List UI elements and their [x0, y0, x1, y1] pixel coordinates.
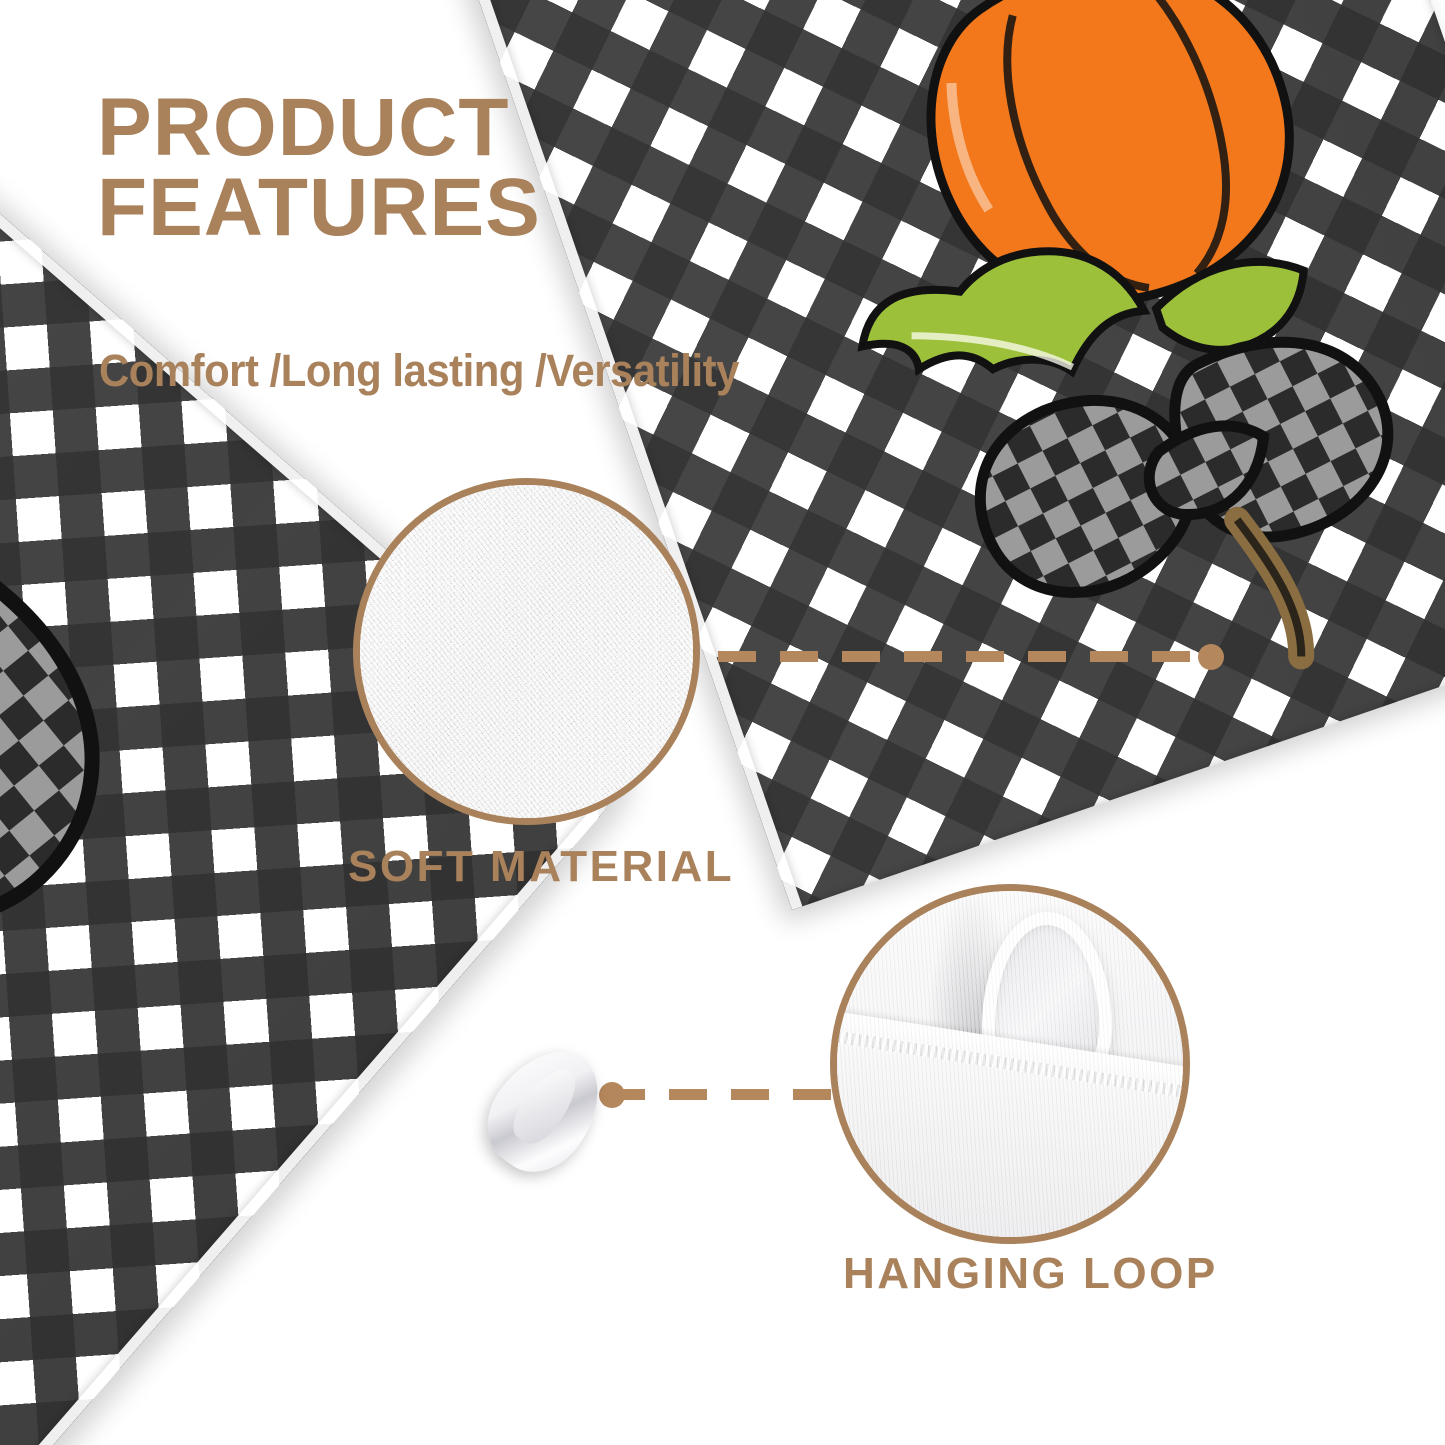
fabric-texture-closeup [360, 485, 693, 818]
caption-soft-material: SOFT MATERIAL [348, 842, 734, 892]
plaid-bow-bottom [0, 296, 166, 1116]
connector-endpoint-dot [599, 1082, 625, 1108]
inset-soft-material [353, 478, 700, 825]
hanging-loop-tab [469, 1030, 622, 1190]
dashed-line [607, 1089, 837, 1100]
infographic-canvas: PRODUCT FEATURES Comfort /Long lasting /… [0, 0, 1445, 1445]
fabric-weave [837, 891, 1183, 1237]
page-title: PRODUCT FEATURES [97, 88, 857, 249]
connector-soft-material [718, 651, 1218, 662]
loop-closeup [837, 891, 1183, 1237]
dashed-line [718, 651, 1218, 662]
page-subtitle: Comfort /Long lasting /Versatility [99, 345, 739, 397]
connector-endpoint-dot [1198, 644, 1224, 670]
connector-hanging-loop [607, 1089, 837, 1100]
inset-hanging-loop [830, 884, 1190, 1244]
caption-hanging-loop: HANGING LOOP [843, 1249, 1218, 1299]
